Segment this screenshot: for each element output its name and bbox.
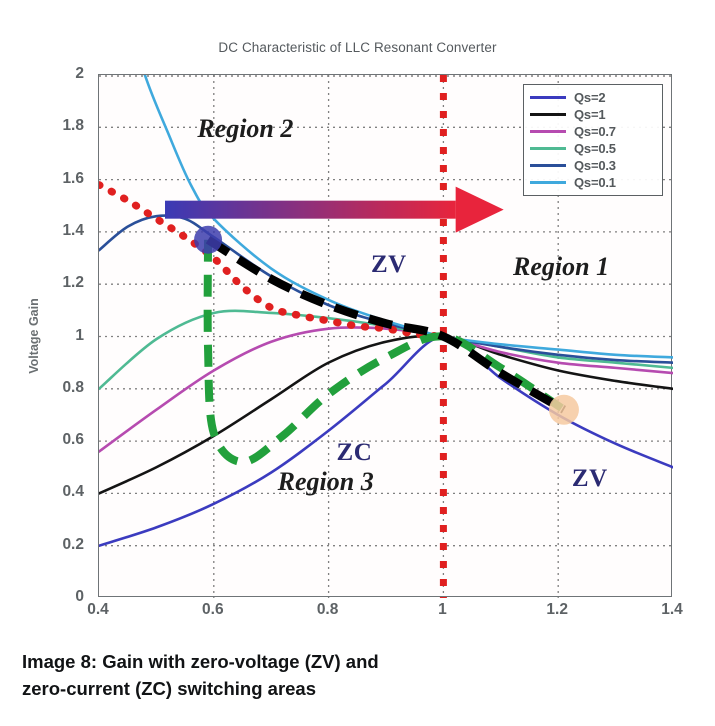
frequency-direction-arrow [165,187,504,233]
legend-swatch-icon [530,181,566,184]
legend-swatch-icon [530,130,566,133]
legend-label: Qs=0.5 [574,141,616,156]
legend-item: Qs=0.7 [530,123,656,140]
x-tick-label: 1.2 [546,601,568,619]
figure-page: DC Characteristic of LLC Resonant Conver… [0,0,715,726]
legend-label: Qs=0.1 [574,175,616,190]
y-tick-label: 1.8 [62,117,84,135]
legend-swatch-icon [530,113,566,116]
x-tick-label: 1 [438,601,447,619]
y-tick-label: 0.4 [62,483,84,501]
y-tick-label: 0.2 [62,536,84,554]
legend-item: Qs=0.3 [530,157,656,174]
y-tick-label: 0.8 [62,379,84,397]
overlay-annotations [99,75,564,598]
legend-swatch-icon [530,147,566,150]
y-tick-label: 1 [75,327,84,345]
caption-line-1: Image 8: Gain with zero-voltage (ZV) and [22,648,582,675]
x-tick-label: 1.4 [661,601,683,619]
y-tick-label: 0.6 [62,431,84,449]
legend-label: Qs=0.7 [574,124,616,139]
legend-label: Qs=1 [574,107,605,122]
legend-item: Qs=1 [530,106,656,123]
y-tick-label: 2 [75,65,84,83]
y-tick-label: 1.6 [62,170,84,188]
legend-item: Qs=0.1 [530,174,656,191]
x-tick-label: 0.6 [202,601,224,619]
caption-line-2: zero-current (ZC) switching areas [22,675,582,702]
legend: Qs=2Qs=1Qs=0.7Qs=0.5Qs=0.3Qs=0.1 [523,84,663,196]
chart-figure: DC Characteristic of LLC Resonant Conver… [0,0,715,640]
x-tick-label: 0.8 [317,601,339,619]
y-tick-label: 0 [75,588,84,606]
legend-label: Qs=2 [574,90,605,105]
y-axis-label: Voltage Gain [27,298,41,373]
x-tick-label: 0.4 [87,601,109,619]
legend-label: Qs=0.3 [574,158,616,173]
figure-caption: Image 8: Gain with zero-voltage (ZV) and… [22,648,582,702]
legend-item: Qs=2 [530,89,656,106]
y-tick-label: 1.2 [62,274,84,292]
legend-swatch-icon [530,164,566,167]
chart-title: DC Characteristic of LLC Resonant Conver… [0,40,715,55]
legend-swatch-icon [530,96,566,99]
y-tick-label: 1.4 [62,222,84,240]
legend-item: Qs=0.5 [530,140,656,157]
